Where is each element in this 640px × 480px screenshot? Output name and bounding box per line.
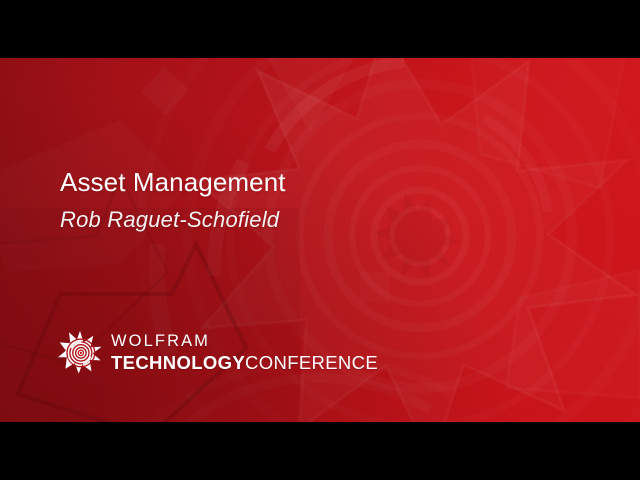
title-slide: Asset Management Rob Raguet-Schofield [0,58,640,422]
wolfram-spikey-icon [58,330,102,374]
spikey-core-watermark [365,186,471,289]
letterbox-bar-top [0,0,640,58]
letterbox-bar-bottom [0,422,640,480]
conference-logo-lockup: WOLFRAM TECHNOLOGYCONFERENCE [58,330,378,374]
wordmark-technology: TECHNOLOGY [111,352,245,373]
conference-wordmark: WOLFRAM TECHNOLOGYCONFERENCE [111,332,378,372]
slide-title: Asset Management [60,168,286,197]
wordmark-second-line: TECHNOLOGYCONFERENCE [111,354,378,373]
video-frame: Asset Management Rob Raguet-Schofield [0,0,640,480]
title-block: Asset Management Rob Raguet-Schofield [60,168,286,233]
wordmark-conference: CONFERENCE [245,352,378,373]
slide-presenter-name: Rob Raguet-Schofield [60,208,286,233]
wordmark-wolfram: WOLFRAM [111,333,378,350]
